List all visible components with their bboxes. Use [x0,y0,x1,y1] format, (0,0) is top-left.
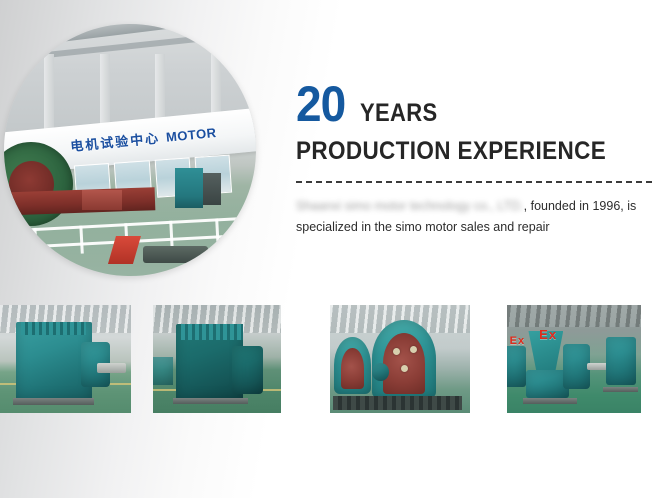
motor-end-bell [232,346,263,394]
subheadline: PRODUCTION EXPERIENCE [296,137,616,166]
redacted-company-name: Shaanxi simo motor technology co., LTD. [296,199,524,213]
banner-content: 20 YEARS PRODUCTION EXPERIENCE Shaanxi s… [296,80,652,238]
thumbnail-3[interactable] [330,305,470,413]
shaft-hub [372,363,389,380]
grey-cabinet [203,173,221,206]
thumbnail-4[interactable]: Ex Ex [507,305,641,413]
foreground-machine [82,190,122,210]
ex-motor-right [606,337,635,385]
thumbnail-3-photo [330,305,470,413]
red-machine-bed [4,188,156,216]
railing-post [170,221,174,249]
ex-motor-main-body [526,370,569,398]
motor-vent-top [181,324,242,339]
thumbnail-strip: Ex Ex [0,305,661,413]
years-label: YEARS [360,99,438,128]
thumbnail-1[interactable] [0,305,131,413]
machine-plinth [333,396,462,410]
thumbnail-4-photo: Ex Ex [507,305,641,413]
dashed-divider [296,181,652,183]
floor-parts [143,246,209,264]
railing-post [215,218,219,246]
rotor-core-front [383,333,425,393]
ex-motor-mid [563,344,590,389]
background-motor [153,357,173,385]
sign-text-latin: MOTOR [165,125,217,145]
thumbnail-1-photo [0,305,131,413]
pallet-base [523,398,577,404]
motor-base [13,398,94,406]
thumbnail-2[interactable] [153,305,281,413]
ex-badge-main: Ex [539,327,557,342]
motor-base [173,398,247,404]
motor-vent-top [21,322,87,335]
headline-row: 20 YEARS [296,80,652,129]
years-number: 20 [296,80,345,129]
company-description: Shaanxi simo motor technology co., LTD.,… [296,196,648,238]
motor-shaft [97,363,126,373]
pallet-base [603,387,638,392]
hero-circle-photo: 电机试验中心MOTOR [4,24,256,276]
ex-motor-left [507,346,526,387]
railing-post [79,226,83,254]
rotor-core-back [341,348,363,389]
hero-photo-scene: 电机试验中心MOTOR [4,24,256,276]
teal-cabinet [175,168,203,208]
railing-post [34,228,38,256]
rotor-bolt [410,346,417,353]
thumbnail-2-photo [153,305,281,413]
photo-ceiling [507,305,641,327]
promo-banner: 电机试验中心MOTOR 2 [0,0,661,498]
ex-badge-left: Ex [510,335,525,347]
